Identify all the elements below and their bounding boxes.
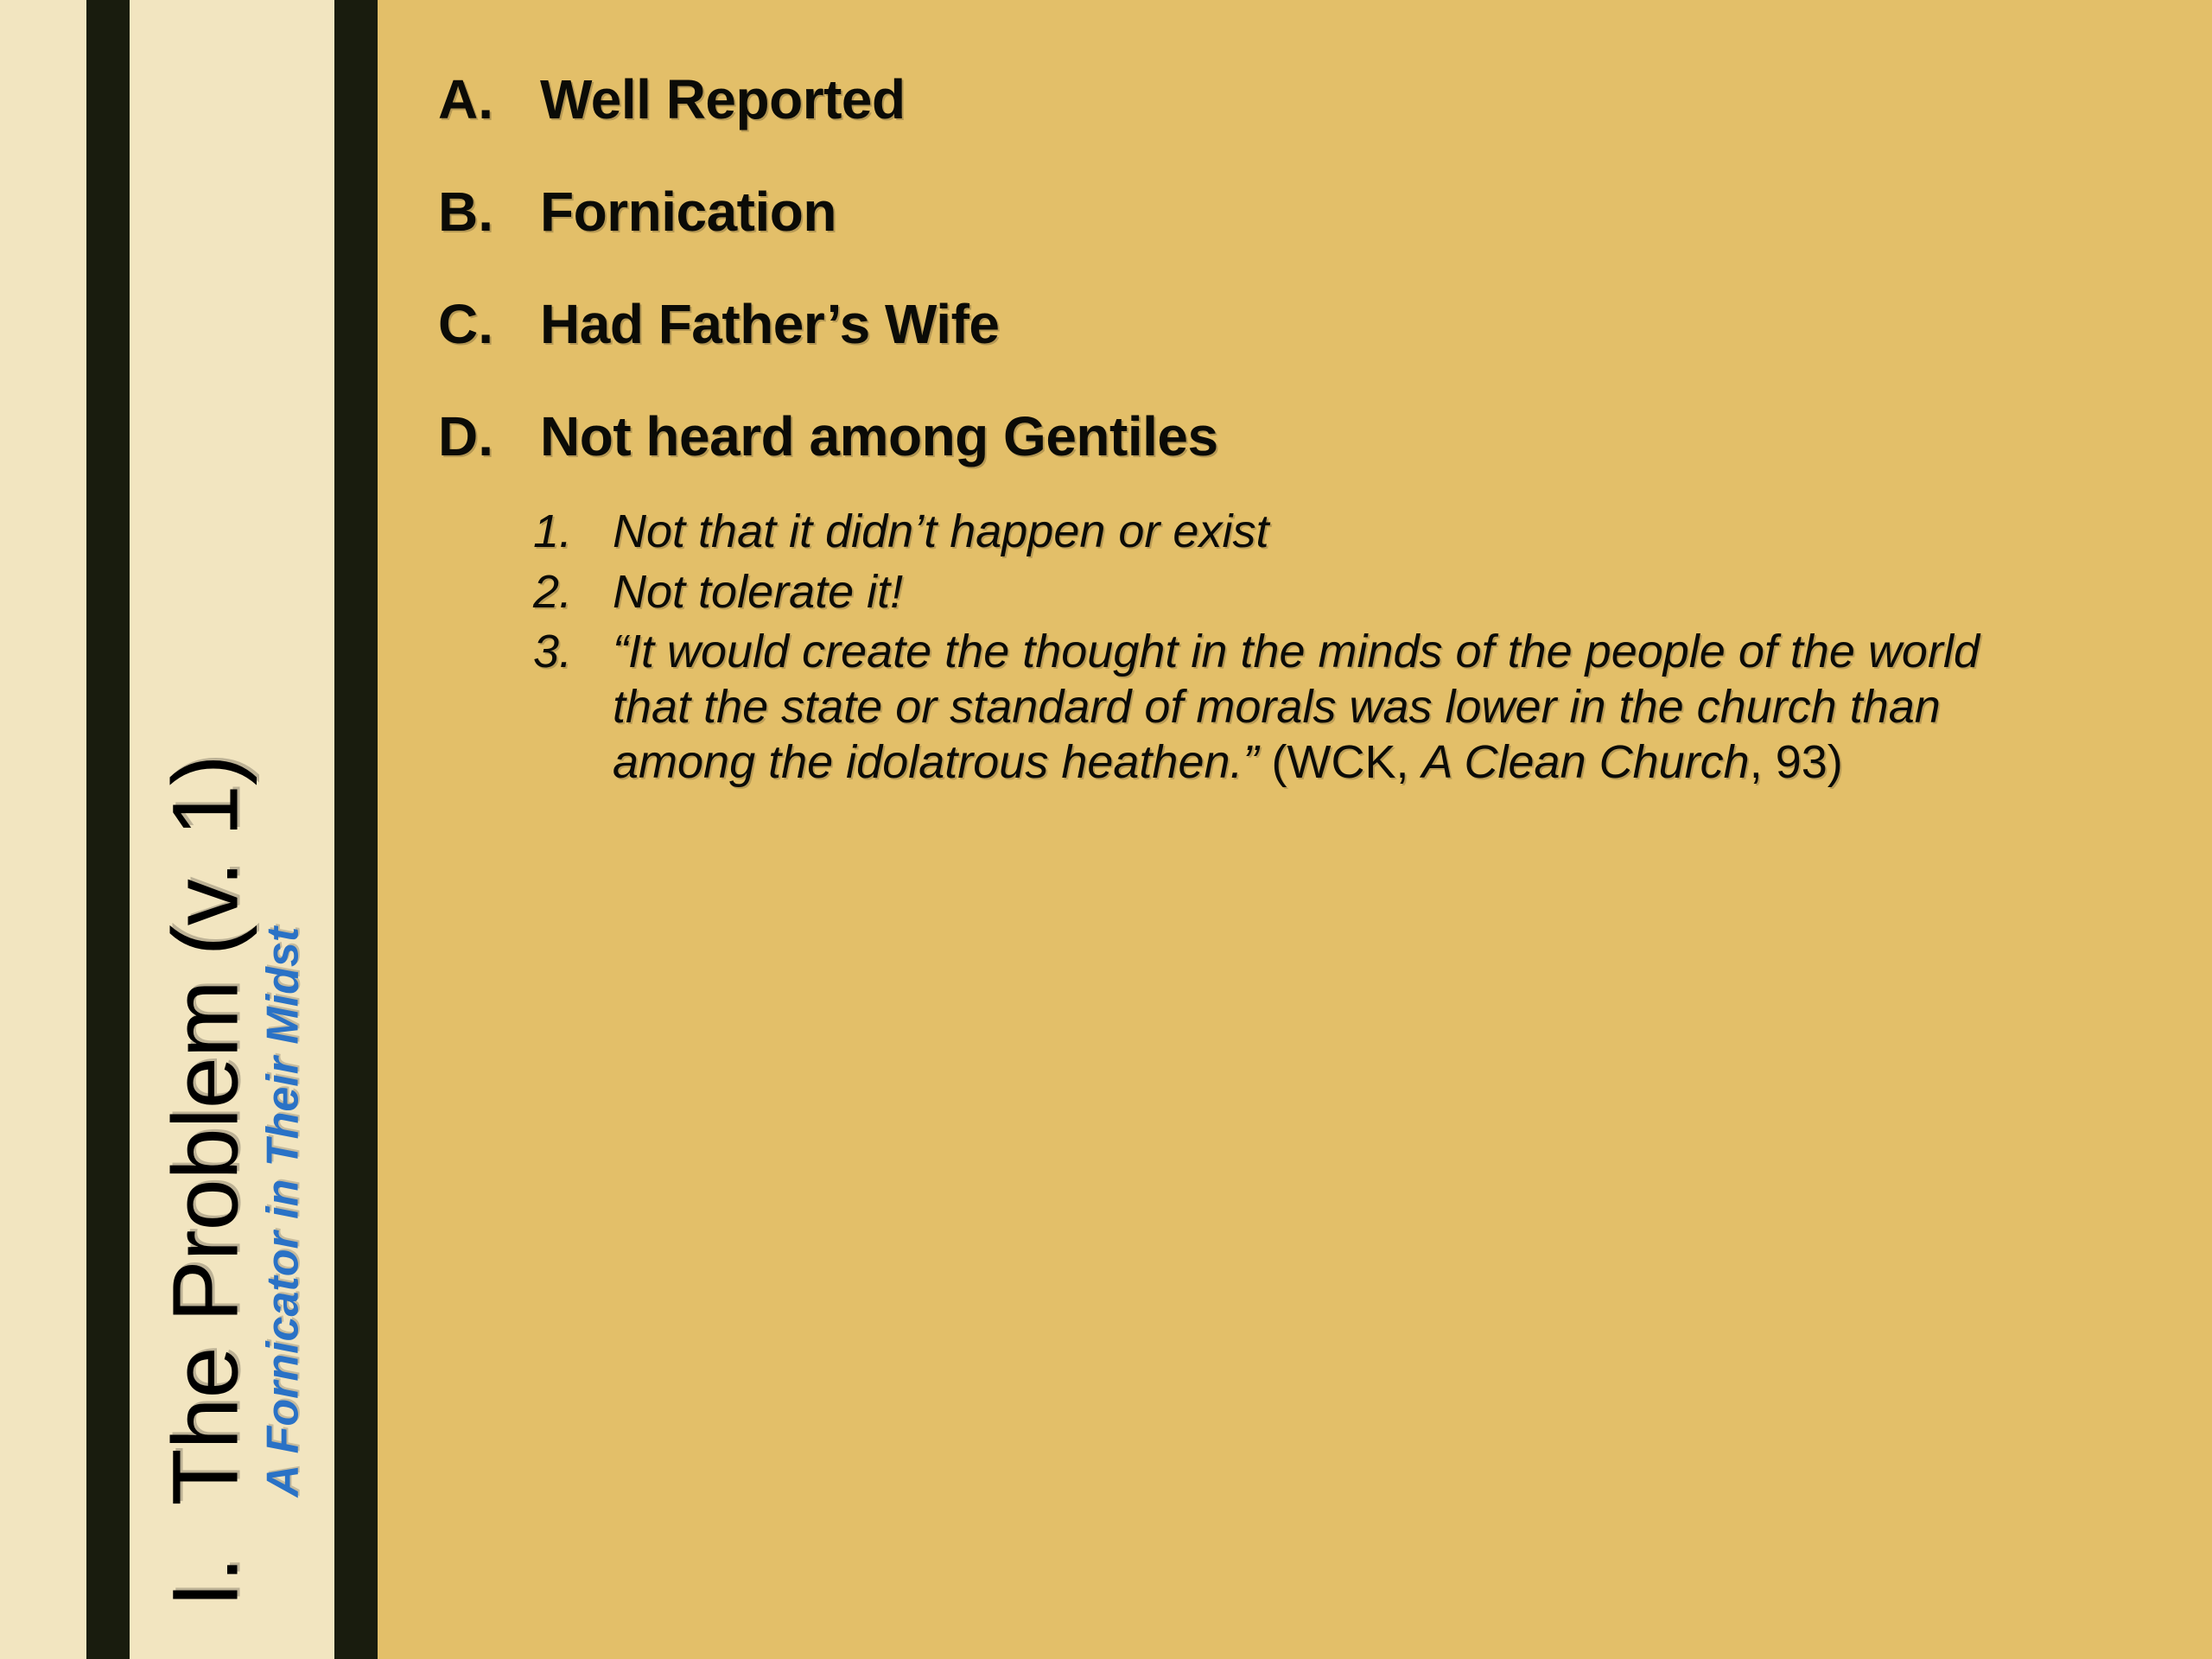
slide-canvas: I.The Problem (v. 1) A Fornicator in The… [0, 0, 2212, 1659]
outline-subitem-1: 1. Not that it didn’t happen or exist [533, 505, 2160, 560]
slide-title: I.The Problem (v. 1) [157, 17, 252, 1607]
subitem-marker: 3. [533, 625, 613, 678]
content-panel: A. Well Reported B. Fornication C. Had F… [378, 0, 2212, 1659]
slide-subtitle: A Fornicator in Their Midst [259, 17, 307, 1497]
outline-sublist: 1. Not that it didn’t happen or exist 2.… [438, 505, 2160, 791]
subitem-marker: 1. [533, 505, 613, 558]
subitem-quote: “It would create the thought in the mind… [613, 625, 1995, 790]
citation-work-title: A Clean Church [1422, 736, 1750, 788]
subitem-label: Not tolerate it! [613, 565, 903, 620]
outline-item-d: D. Not heard among Gentiles [438, 404, 2160, 468]
slide-title-text: The Problem (v. 1) [152, 755, 257, 1505]
outline-marker: B. [438, 180, 540, 244]
outline-item-b: B. Fornication [438, 180, 2160, 244]
outline-item-c: C. Had Father’s Wife [438, 292, 2160, 356]
outline-label: Well Reported [540, 67, 906, 131]
citation-close: , 93) [1750, 736, 1843, 788]
outline-item-a: A. Well Reported [438, 67, 2160, 131]
left-inner-rule [334, 0, 378, 1659]
outline-label: Fornication [540, 180, 836, 244]
sidebar-title-block: I.The Problem (v. 1) A Fornicator in The… [130, 0, 334, 1659]
left-outer-rule [86, 0, 130, 1659]
outline-marker: A. [438, 67, 540, 131]
outline-subitem-3: 3. “It would create the thought in the m… [533, 625, 2160, 790]
outline-label: Not heard among Gentiles [540, 404, 1218, 468]
outline-marker: C. [438, 292, 540, 356]
subitem-label: Not that it didn’t happen or exist [613, 505, 1268, 560]
outline-marker: D. [438, 404, 540, 468]
citation-open: (WCK, [1259, 736, 1422, 788]
outline-label: Had Father’s Wife [540, 292, 999, 356]
subitem-marker: 2. [533, 565, 613, 619]
slide-title-numeral: I. [157, 1505, 252, 1607]
outline-subitem-2: 2. Not tolerate it! [533, 565, 2160, 620]
